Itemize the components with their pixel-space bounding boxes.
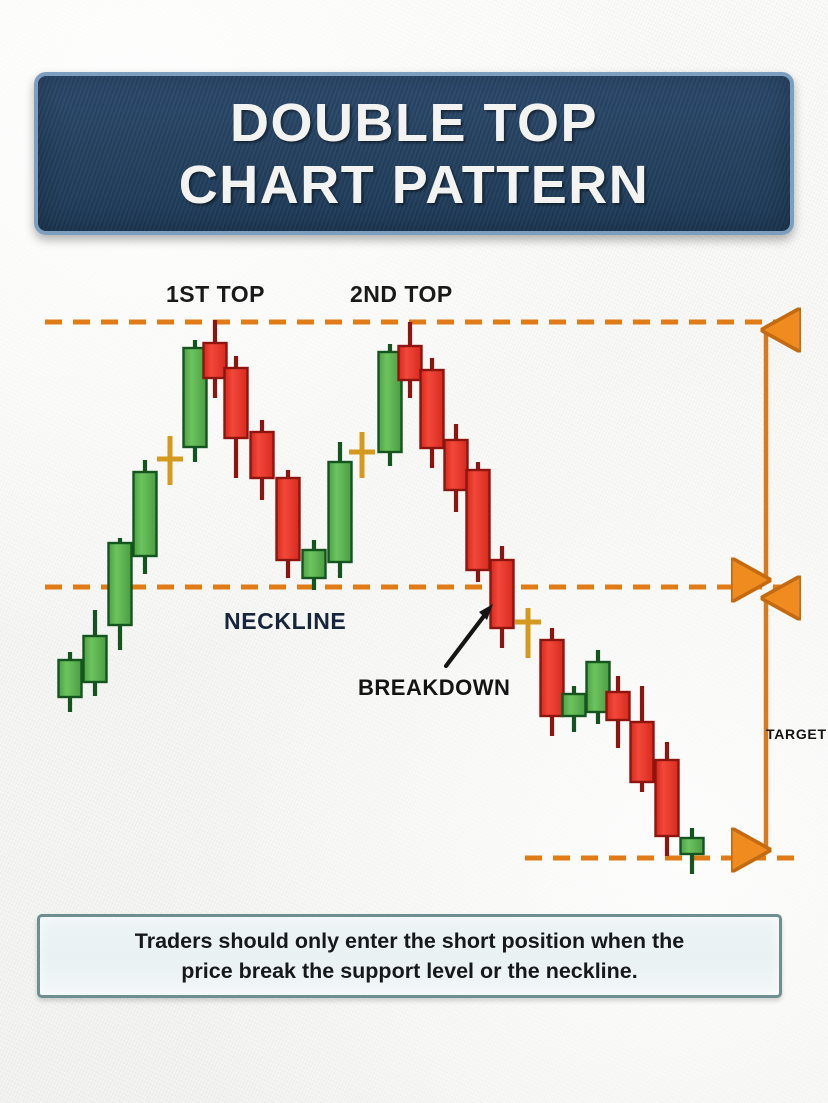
candle — [157, 436, 183, 485]
chart-canvas — [0, 250, 828, 890]
bearish-candle-body — [491, 560, 514, 628]
note-line-2: price break the support level or the nec… — [181, 956, 637, 986]
bullish-candle-body — [59, 660, 82, 697]
advice-note: Traders should only enter the short posi… — [37, 914, 782, 998]
bearish-candle-body — [656, 760, 679, 836]
title-line-1: DOUBLE TOP — [230, 92, 598, 154]
bullish-candle-body — [84, 636, 107, 682]
candle — [631, 686, 654, 792]
candle — [541, 628, 564, 736]
candle — [349, 432, 375, 478]
note-line-1: Traders should only enter the short posi… — [135, 926, 685, 956]
bullish-candle-body — [134, 472, 157, 556]
label-second-top: 2ND TOP — [350, 281, 453, 308]
bullish-candle-body — [563, 694, 586, 716]
bullish-candle-body — [303, 550, 326, 578]
candle — [563, 686, 586, 732]
candle — [277, 470, 300, 578]
candle — [251, 420, 274, 500]
bearish-candle-body — [251, 432, 274, 478]
bearish-candle-body — [399, 346, 422, 380]
candle — [467, 462, 490, 582]
candlestick-chart — [0, 250, 828, 890]
candle — [59, 652, 82, 712]
breakdown-arrow — [446, 604, 493, 666]
bullish-candle-body — [109, 543, 132, 625]
candle — [329, 442, 352, 578]
candle — [515, 608, 541, 658]
candle — [225, 356, 248, 478]
title-banner: DOUBLE TOP CHART PATTERN — [34, 72, 794, 235]
candle — [84, 610, 107, 696]
bearish-candle-body — [541, 640, 564, 716]
label-target: TARGET — [766, 726, 827, 742]
candle — [134, 460, 157, 574]
label-breakdown: BREAKDOWN — [358, 675, 510, 701]
bearish-candle-body — [277, 478, 300, 560]
bearish-candle-body — [204, 343, 227, 378]
candle — [656, 742, 679, 856]
candle — [445, 424, 468, 512]
label-first-top: 1ST TOP — [166, 281, 265, 308]
bearish-candle-body — [607, 692, 630, 720]
candle — [681, 828, 704, 874]
label-neckline: NECKLINE — [224, 608, 346, 635]
bullish-candle-body — [681, 838, 704, 854]
candle-series — [59, 320, 704, 874]
bullish-candle-body — [329, 462, 352, 562]
poster-page: DOUBLE TOP CHART PATTERN — [0, 0, 828, 1103]
candle — [491, 546, 514, 648]
candle — [109, 538, 132, 650]
bearish-candle-body — [225, 368, 248, 438]
title-line-2: CHART PATTERN — [179, 154, 649, 216]
bearish-candle-body — [421, 370, 444, 448]
bearish-candle-body — [467, 470, 490, 570]
bearish-candle-body — [631, 722, 654, 782]
candle — [303, 540, 326, 590]
bearish-candle-body — [445, 440, 468, 490]
candle — [421, 358, 444, 468]
